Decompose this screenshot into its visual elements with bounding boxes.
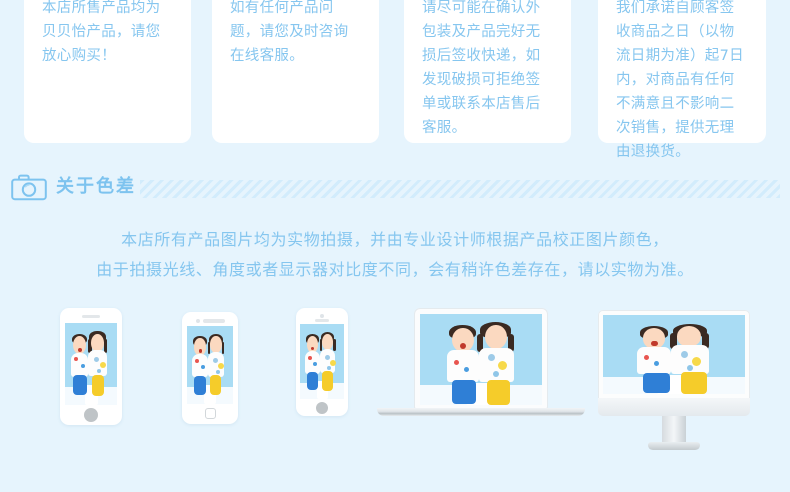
monitor-neck bbox=[662, 416, 686, 444]
description-line-2: 由于拍摄光线、角度或者显示器对比度不同，会有稍许色差存在，请以实物为准。 bbox=[0, 255, 790, 285]
device-phone-1 bbox=[60, 308, 122, 425]
device-showcase bbox=[0, 296, 790, 476]
hatch-decoration bbox=[140, 180, 780, 198]
device-phone-3 bbox=[296, 308, 348, 416]
phone-speaker bbox=[82, 315, 100, 318]
service-card-product-question: 如有任何产品问题，请您及时咨询在线客服。 bbox=[212, 0, 379, 143]
service-card-text: 请尽可能在确认外包装及产品完好无损后签收快递，如发现破损可拒绝签单或联系本店售后… bbox=[422, 0, 553, 140]
device-monitor bbox=[598, 310, 750, 455]
phone-home-button bbox=[316, 402, 328, 414]
phone-front-camera-icon bbox=[320, 314, 324, 318]
laptop-base bbox=[377, 408, 585, 416]
service-card-delivery-inspection: 请尽可能在确认外包装及产品完好无损后签收快递，如发现破损可拒绝签单或联系本店售后… bbox=[404, 0, 571, 143]
service-card-text: 本店所售产品均为贝贝怡产品，请您放心购买！ bbox=[42, 0, 173, 68]
phone-home-button bbox=[205, 408, 216, 419]
phone-front-camera-icon bbox=[196, 319, 200, 323]
section-header: 关于色差 bbox=[0, 168, 790, 206]
phone-screen-photo bbox=[300, 324, 344, 399]
section-title: 关于色差 bbox=[56, 174, 136, 200]
description-line-1: 本店所有产品图片均为实物拍摄，并由专业设计师根据产品校正图片颜色， bbox=[0, 225, 790, 255]
device-laptop bbox=[414, 308, 548, 418]
monitor-screen-photo bbox=[603, 315, 745, 394]
phone-screen-photo bbox=[65, 323, 117, 405]
phone-screen-photo bbox=[187, 326, 233, 404]
color-difference-description: 本店所有产品图片均为实物拍摄，并由专业设计师根据产品校正图片颜色， 由于拍摄光线… bbox=[0, 225, 790, 285]
laptop-lid bbox=[414, 308, 548, 409]
service-card-return-policy: 我们承诺自顾客签收商品之日（以物流日期为准）起7日内，对商品有任何不满意且不影响… bbox=[598, 0, 766, 143]
page-root: 本店所售产品均为贝贝怡产品，请您放心购买！ 如有任何产品问题，请您及时咨询在线客… bbox=[0, 0, 790, 492]
device-phone-2 bbox=[182, 312, 238, 424]
service-card-text: 我们承诺自顾客签收商品之日（以物流日期为准）起7日内，对商品有任何不满意且不影响… bbox=[616, 0, 748, 164]
monitor-foot bbox=[648, 442, 700, 450]
service-card-text: 如有任何产品问题，请您及时咨询在线客服。 bbox=[230, 0, 361, 68]
monitor-chin bbox=[598, 398, 750, 416]
phone-speaker bbox=[203, 319, 225, 323]
service-cards-row: 本店所售产品均为贝贝怡产品，请您放心购买！ 如有任何产品问题，请您及时咨询在线客… bbox=[0, 0, 790, 143]
camera-icon bbox=[10, 172, 48, 202]
monitor-body bbox=[598, 310, 750, 408]
laptop-screen-photo bbox=[420, 314, 542, 405]
service-card-genuine-product: 本店所售产品均为贝贝怡产品，请您放心购买！ bbox=[24, 0, 191, 143]
phone-home-button bbox=[84, 408, 98, 422]
phone-speaker bbox=[315, 319, 329, 322]
